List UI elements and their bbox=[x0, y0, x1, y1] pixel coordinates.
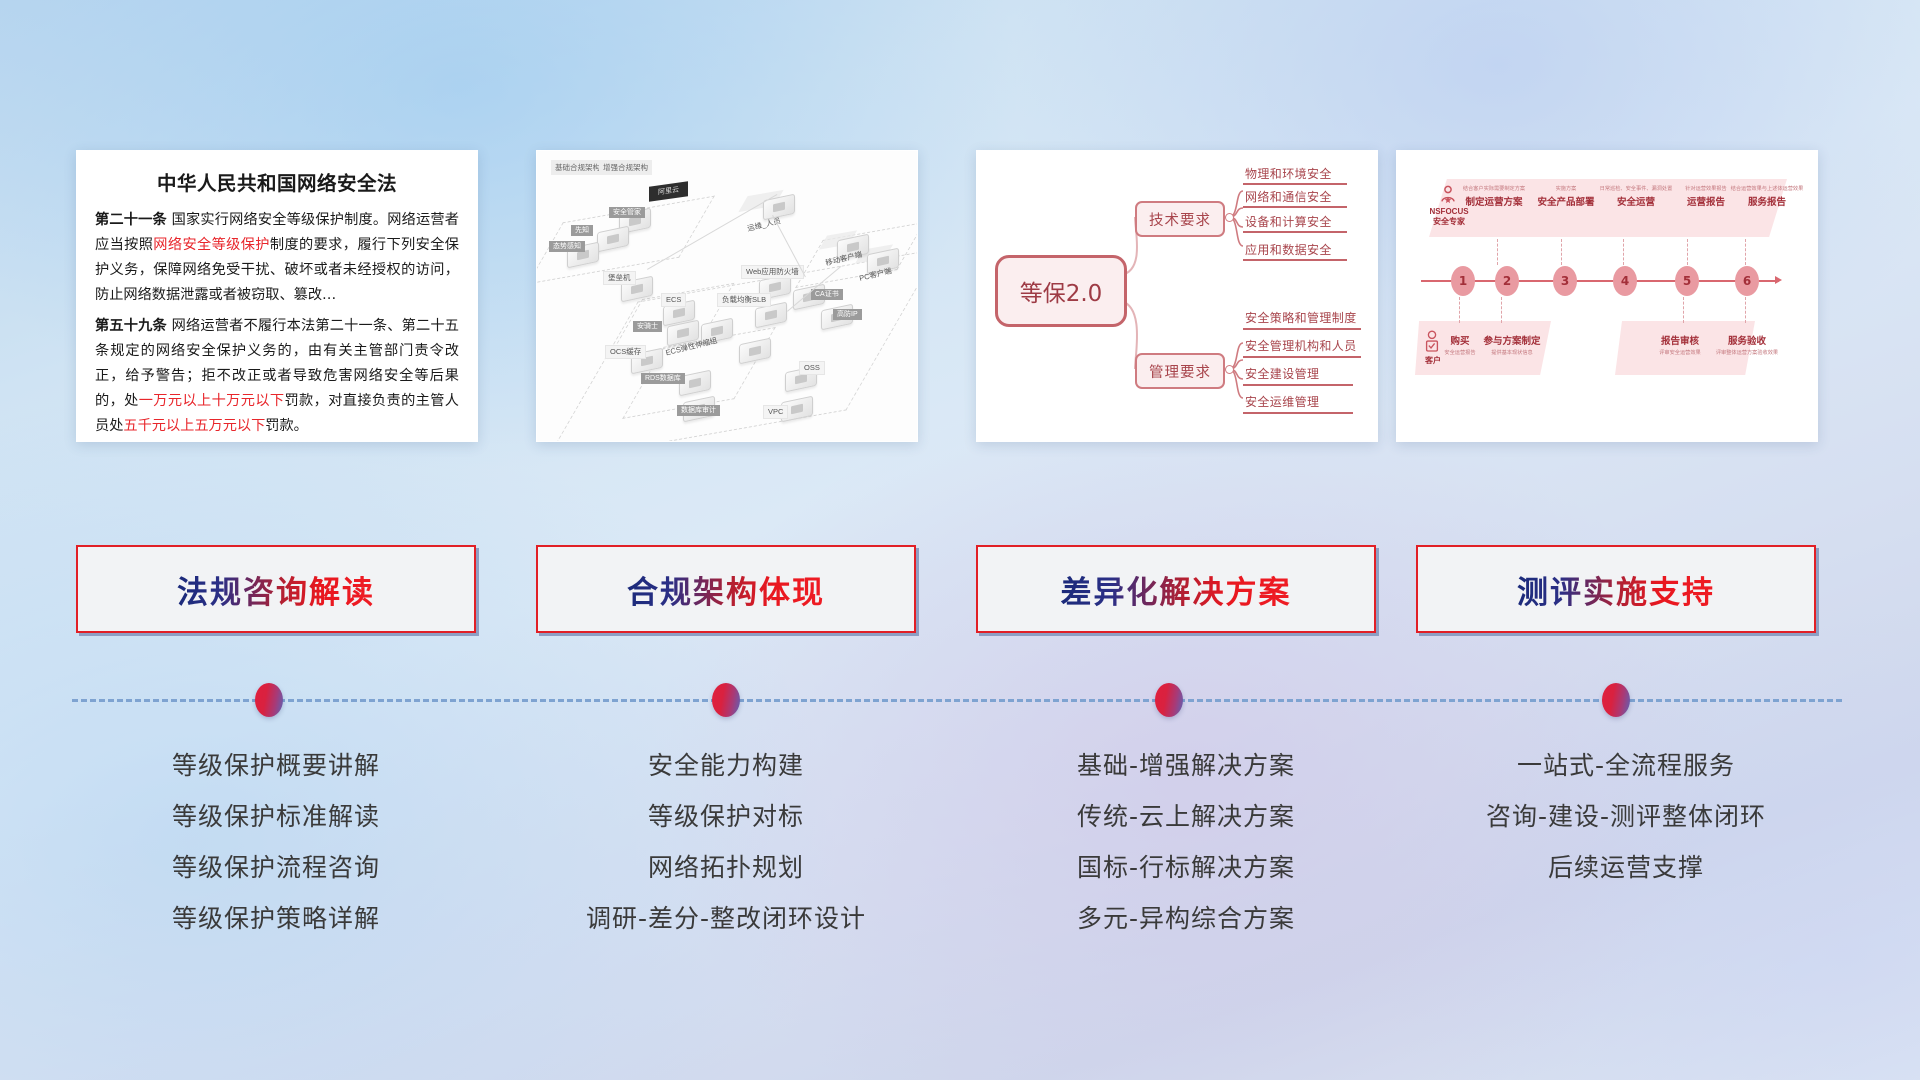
ops-milestone-2[interactable]: 2 bbox=[1495, 266, 1519, 296]
ops-milestone-5[interactable]: 5 bbox=[1675, 266, 1699, 296]
list-item: 后续运营支撑 bbox=[1416, 842, 1836, 893]
arch-label-db-audit: 数据库审计 bbox=[677, 405, 720, 416]
mindmap-underline-mgmt-4 bbox=[1243, 412, 1353, 414]
list-item: 网络拓扑规划 bbox=[516, 842, 936, 893]
list-item: 国标-行标解决方案 bbox=[976, 842, 1396, 893]
ops-bottom-step-1-title: 购买 bbox=[1439, 333, 1481, 347]
ops-top-step-3-title: 安全运营 bbox=[1593, 194, 1679, 208]
arch-label-ca: CA证书 bbox=[811, 289, 843, 300]
mindmap-underline-tech-1 bbox=[1243, 183, 1347, 185]
card-law-text[interactable]: 中华人民共和国网络安全法 第二十一条 国家实行网络安全等级保护制度。网络运营者应… bbox=[76, 150, 478, 442]
timeline-node-2[interactable] bbox=[712, 683, 740, 717]
mindmap-leaf-mgmt-2: 安全管理机构和人员 bbox=[1245, 337, 1357, 354]
section-title-label-2: 合规架构体现 bbox=[627, 567, 825, 612]
mindmap-branch-technical[interactable]: 技术要求 bbox=[1135, 201, 1225, 237]
ops-bottom-step-4: 服务验收 评审整体运营方案验收效果 bbox=[1709, 333, 1785, 356]
arch-label-rds: RDS数据库 bbox=[641, 373, 685, 384]
section-title-box-2[interactable]: 合规架构体现 bbox=[536, 545, 916, 633]
list-item: 等级保护策略详解 bbox=[76, 893, 476, 944]
ops-milestone-1[interactable]: 1 bbox=[1451, 266, 1475, 296]
section-title-label-4: 测评实施支持 bbox=[1517, 567, 1715, 612]
ops-top-step-5: 结合运营效果与上述体运营效果 服务报告 bbox=[1727, 185, 1807, 208]
ops-vdash-2 bbox=[1497, 239, 1498, 265]
list-item: 安全能力构建 bbox=[516, 740, 936, 791]
ops-top-step-3: 日常巡检、安全事件、漏洞处置 安全运营 bbox=[1593, 185, 1679, 208]
arch-header-enhanced: 增强合规架构 bbox=[599, 160, 652, 175]
mindmap-collapse-icon-management[interactable] bbox=[1225, 365, 1234, 374]
arch-cloud-block: 阿里云 bbox=[649, 181, 688, 201]
law-title: 中华人民共和国网络安全法 bbox=[95, 167, 459, 196]
arch-label-slb: 负载均衡SLB bbox=[717, 293, 771, 307]
arch-label-security-butler: 安全管家 bbox=[609, 207, 645, 218]
section-title-row: 法规咨询解读 合规架构体现 差异化解决方案 测评实施支持 bbox=[0, 545, 1920, 637]
mindmap-underline-tech-3 bbox=[1243, 231, 1347, 233]
timeline-dashed-line bbox=[72, 699, 1842, 702]
article-21-number: 第二十一条 bbox=[95, 212, 167, 228]
mindmap-root-node[interactable]: 等保2.0 bbox=[995, 255, 1127, 327]
ops-expert-name: NSFOCUS bbox=[1429, 207, 1468, 216]
feature-list-1: 等级保护概要讲解 等级保护标准解读 等级保护流程咨询 等级保护策略详解 bbox=[76, 740, 476, 944]
mindmap-leaf-mgmt-4: 安全运维管理 bbox=[1245, 393, 1319, 410]
feature-list-3: 基础-增强解决方案 传统-云上解决方案 国标-行标解决方案 多元-异构综合方案 bbox=[976, 740, 1396, 944]
list-item: 一站式-全流程服务 bbox=[1416, 740, 1836, 791]
mindmap-collapse-icon-technical[interactable] bbox=[1225, 213, 1234, 222]
ops-axis-arrow-icon bbox=[1775, 276, 1782, 284]
mindmap-underline-tech-2 bbox=[1243, 206, 1347, 208]
card-cloud-architecture[interactable]: 基础合规架构 增强合规架构 阿里云 bbox=[536, 150, 918, 442]
ops-top-step-1-sub: 结合客户实际需要制定方案 bbox=[1455, 185, 1533, 192]
ops-top-step-5-title: 服务报告 bbox=[1727, 194, 1807, 208]
mindmap-leaf-tech-4: 应用和数据安全 bbox=[1245, 241, 1332, 258]
ops-bottom-step-1: 购买 安全运营报告 bbox=[1439, 333, 1481, 356]
mindmap-leaf-tech-2: 网络和通信安全 bbox=[1245, 188, 1332, 205]
article-59-fine-2: 五千元以上五万元以下 bbox=[123, 418, 265, 434]
ops-bottom-step-4-title: 服务验收 bbox=[1709, 333, 1785, 347]
feature-list-4: 一站式-全流程服务 咨询-建设-测评整体闭环 后续运营支撑 bbox=[1416, 740, 1836, 893]
ops-bottom-step-3-title: 报告审核 bbox=[1645, 333, 1715, 347]
ops-actor-expert: NSFOCUS 安全专家 bbox=[1421, 207, 1477, 227]
ops-milestone-3[interactable]: 3 bbox=[1553, 266, 1577, 296]
list-item: 咨询-建设-测评整体闭环 bbox=[1416, 791, 1836, 842]
ops-vdash-6 bbox=[1745, 239, 1746, 265]
article-59-text-c: 罚款。 bbox=[265, 418, 308, 434]
ops-vdash-b4 bbox=[1745, 297, 1746, 323]
arch-label-situation: 态势感知 bbox=[549, 241, 585, 252]
law-article-21: 第二十一条 国家实行网络安全等级保护制度。网络运营者应当按照网络安全等级保护制度… bbox=[95, 208, 459, 308]
timeline-node-3[interactable] bbox=[1155, 683, 1183, 717]
mindmap-dengbao: 等保2.0 技术要求 物理和环境安全 网络和通信安全 设备和计算安全 应用和数据… bbox=[977, 151, 1377, 441]
ops-bottom-step-2-title: 参与方案制定 bbox=[1479, 333, 1545, 347]
list-item: 等级保护对标 bbox=[516, 791, 936, 842]
timeline-node-4[interactable] bbox=[1602, 683, 1630, 717]
section-title-box-3[interactable]: 差异化解决方案 bbox=[976, 545, 1376, 633]
arch-label-ocs: OCS缓存 bbox=[605, 345, 646, 359]
section-title-label-3: 差异化解决方案 bbox=[1061, 567, 1292, 612]
list-item: 等级保护标准解读 bbox=[76, 791, 476, 842]
mindmap-leaf-mgmt-3: 安全建设管理 bbox=[1245, 365, 1319, 382]
card-mind-map[interactable]: 等保2.0 技术要求 物理和环境安全 网络和通信安全 设备和计算安全 应用和数据… bbox=[976, 150, 1378, 442]
image-cards-row: 中华人民共和国网络安全法 第二十一条 国家实行网络安全等级保护制度。网络运营者应… bbox=[0, 150, 1920, 445]
list-item: 基础-增强解决方案 bbox=[976, 740, 1396, 791]
ops-vdash-b3 bbox=[1683, 297, 1684, 323]
arch-label-xianzhi: 先知 bbox=[571, 225, 593, 236]
ops-vdash-3 bbox=[1561, 239, 1562, 265]
list-item: 传统-云上解决方案 bbox=[976, 791, 1396, 842]
slide-canvas: 中华人民共和国网络安全法 第二十一条 国家实行网络安全等级保护制度。网络运营者应… bbox=[0, 0, 1920, 1080]
arch-label-vpc: VPC bbox=[763, 405, 788, 419]
arch-label-highdefense-ip: 高防IP bbox=[833, 309, 862, 320]
ops-top-step-3-sub: 日常巡检、安全事件、漏洞处置 bbox=[1593, 185, 1679, 192]
ops-expert-role: 安全专家 bbox=[1433, 217, 1465, 226]
mindmap-leaf-tech-3: 设备和计算安全 bbox=[1245, 213, 1332, 230]
feature-list-2: 安全能力构建 等级保护对标 网络拓扑规划 调研-差分-整改闭环设计 bbox=[516, 740, 936, 944]
ops-bottom-step-2: 参与方案制定 提供基本现状信息 bbox=[1479, 333, 1545, 356]
ops-bottom-step-1-sub: 安全运营报告 bbox=[1439, 349, 1481, 356]
mindmap-underline-mgmt-2 bbox=[1243, 356, 1361, 358]
ops-vdash-b2 bbox=[1501, 297, 1502, 323]
card-ops-timeline[interactable]: NSFOCUS 安全专家 客户 结合客户实际需要制定方案 制定运营方案 实施方案… bbox=[1396, 150, 1818, 442]
arch-label-bastion: 堡垒机 bbox=[603, 271, 636, 285]
mindmap-branch-management[interactable]: 管理要求 bbox=[1135, 353, 1225, 389]
arch-label-anqishi: 安骑士 bbox=[633, 321, 662, 332]
list-item: 等级保护流程咨询 bbox=[76, 842, 476, 893]
ops-milestone-6[interactable]: 6 bbox=[1735, 266, 1759, 296]
list-item: 等级保护概要讲解 bbox=[76, 740, 476, 791]
article-21-highlight: 网络安全等级保护 bbox=[153, 237, 270, 253]
mindmap-leaf-tech-1: 物理和环境安全 bbox=[1245, 165, 1332, 182]
arch-label-oss: OSS bbox=[799, 361, 825, 375]
law-article-59: 第五十九条 网络运营者不履行本法第二十一条、第二十五条规定的网络安全保护义务的，… bbox=[95, 314, 459, 439]
arch-header-basic: 基础合规架构 bbox=[551, 160, 604, 175]
section-title-box-4[interactable]: 测评实施支持 bbox=[1416, 545, 1816, 633]
ops-top-step-1: 结合客户实际需要制定方案 制定运营方案 bbox=[1455, 185, 1533, 208]
ops-milestone-4[interactable]: 4 bbox=[1613, 266, 1637, 296]
ops-bottom-step-3-sub: 评审安全运营效果 bbox=[1645, 349, 1715, 356]
mindmap-leaf-mgmt-1: 安全策略和管理制度 bbox=[1245, 309, 1357, 326]
ops-top-step-5-sub: 结合运营效果与上述体运营效果 bbox=[1727, 185, 1807, 192]
ops-bottom-step-3: 报告审核 评审安全运营效果 bbox=[1645, 333, 1715, 356]
section-title-box-1[interactable]: 法规咨询解读 bbox=[76, 545, 476, 633]
mindmap-underline-tech-4 bbox=[1243, 259, 1347, 261]
ops-vdash-5 bbox=[1687, 239, 1688, 265]
timeline-connector bbox=[0, 660, 1920, 740]
ops-top-step-1-title: 制定运营方案 bbox=[1455, 194, 1533, 208]
ops-bottom-step-2-sub: 提供基本现状信息 bbox=[1479, 349, 1545, 356]
list-item: 多元-异构综合方案 bbox=[976, 893, 1396, 944]
ops-bottom-step-4-sub: 评审整体运营方案验收效果 bbox=[1709, 349, 1785, 356]
article-59-number: 第五十九条 bbox=[95, 318, 167, 334]
ops-vdash-b1 bbox=[1459, 297, 1460, 323]
arch-label-ecs: ECS bbox=[661, 293, 686, 307]
ops-vdash-4 bbox=[1623, 239, 1624, 265]
article-59-fine-1: 一万元以上十万元以下 bbox=[139, 393, 285, 409]
law-document: 中华人民共和国网络安全法 第二十一条 国家实行网络安全等级保护制度。网络运营者应… bbox=[77, 151, 477, 441]
feature-lists-row: 等级保护概要讲解 等级保护标准解读 等级保护流程咨询 等级保护策略详解 安全能力… bbox=[0, 740, 1920, 970]
arch-label-waf: Web应用防火墙 bbox=[741, 265, 804, 279]
ops-actor-customer: 客户 bbox=[1419, 356, 1447, 366]
ops-service-flow: NSFOCUS 安全专家 客户 结合客户实际需要制定方案 制定运营方案 实施方案… bbox=[1397, 151, 1817, 441]
section-title-label-1: 法规咨询解读 bbox=[177, 567, 375, 612]
cloud-architecture-diagram: 基础合规架构 增强合规架构 阿里云 bbox=[537, 151, 917, 441]
mindmap-underline-mgmt-3 bbox=[1243, 384, 1353, 386]
timeline-node-1[interactable] bbox=[255, 683, 283, 717]
mindmap-underline-mgmt-1 bbox=[1243, 328, 1361, 330]
list-item: 调研-差分-整改闭环设计 bbox=[516, 893, 936, 944]
